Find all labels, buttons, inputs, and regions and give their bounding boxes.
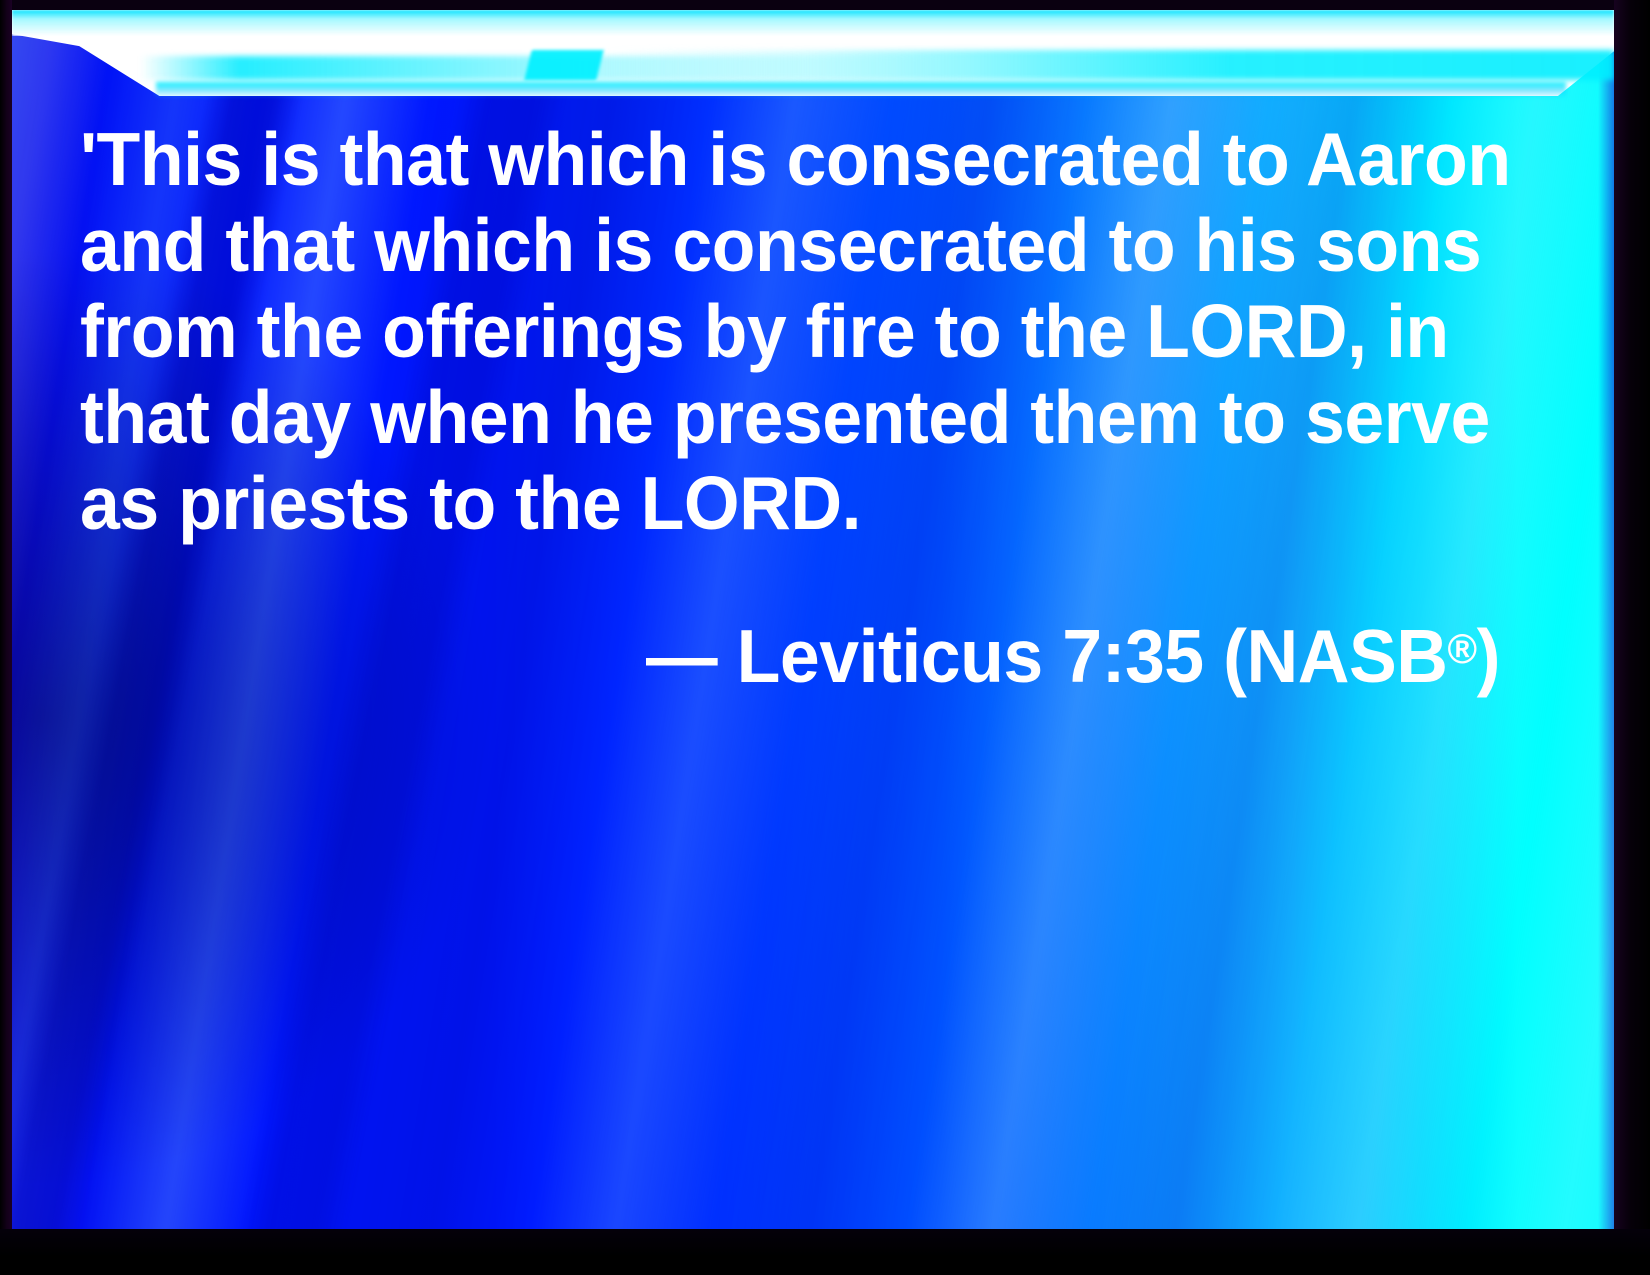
frame-border-right bbox=[1614, 0, 1650, 1275]
verse-attribution: — Leviticus 7:35 (NASB®) bbox=[144, 606, 1500, 699]
verse-line-2: and that which is consecrated to his son… bbox=[80, 202, 1436, 288]
bible-verse-slide: 'This is that which is consecrated to Aa… bbox=[0, 0, 1650, 1275]
registered-trademark-icon: ® bbox=[1448, 625, 1477, 672]
verse-line-5: as priests to the LORD. bbox=[80, 460, 1436, 546]
verse-line-1: 'This is that which is consecrated to Aa… bbox=[80, 116, 1436, 202]
attribution-translation-close: ) bbox=[1477, 614, 1500, 698]
frame-border-left bbox=[0, 0, 12, 1275]
verse-text-block: 'This is that which is consecrated to Aa… bbox=[80, 116, 1500, 699]
attribution-spacer-2 bbox=[1043, 614, 1062, 698]
attribution-spacer-3 bbox=[1204, 614, 1223, 698]
verse-line-4: that day when he presented them to serve bbox=[80, 374, 1436, 460]
verse-line-3: from the offerings by fire to the LORD, … bbox=[80, 288, 1436, 374]
slide-canvas: 'This is that which is consecrated to Aa… bbox=[12, 10, 1614, 1229]
attribution-dash: — bbox=[646, 614, 717, 698]
attribution-spacer-1 bbox=[717, 614, 736, 698]
attribution-book: Leviticus bbox=[737, 614, 1043, 698]
attribution-reference: 7:35 bbox=[1062, 614, 1203, 698]
attribution-translation-open: (NASB bbox=[1223, 614, 1447, 698]
frame-border-top bbox=[0, 0, 1650, 10]
frame-border-bottom bbox=[0, 1229, 1650, 1275]
